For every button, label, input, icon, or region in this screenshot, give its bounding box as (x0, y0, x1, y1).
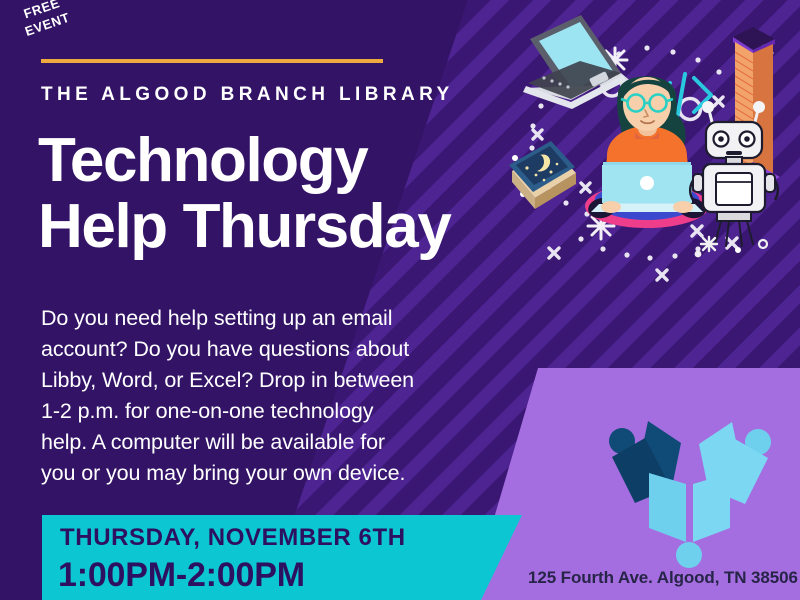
event-date: THURSDAY, NOVEMBER 6TH (60, 524, 406, 552)
technology-illustration (495, 8, 800, 303)
page-title-line1: Technology (38, 128, 518, 194)
description-line5: help. A computer will be available for (41, 427, 466, 458)
description-line6: you or you may bring your own device. (41, 458, 466, 489)
logo-head-bottom (676, 542, 702, 568)
description-text: Do you need help setting up an email acc… (41, 303, 466, 489)
poster-canvas: FREE EVENT THE ALGOOD BRANCH LIBRARY Tec… (0, 0, 800, 600)
page-title: Technology Help Thursday (38, 128, 518, 260)
event-time: 1:00PM-2:00PM (58, 556, 305, 595)
library-name-kicker: THE ALGOOD BRANCH LIBRARY (41, 84, 454, 106)
orange-divider-rule (41, 59, 383, 63)
logo-book-bottom-right (693, 473, 730, 542)
library-logo (600, 395, 780, 575)
description-line2: account? Do you have questions about (41, 334, 466, 365)
logo-book-bottom-left (649, 473, 686, 542)
description-line4: 1-2 p.m. for one-on-one technology (41, 396, 466, 427)
page-title-line2: Help Thursday (38, 194, 518, 260)
description-line3: Libby, Word, or Excel? Drop in between (41, 365, 466, 396)
description-line1: Do you need help setting up an email (41, 303, 466, 334)
book-with-moon-icon (509, 141, 576, 209)
